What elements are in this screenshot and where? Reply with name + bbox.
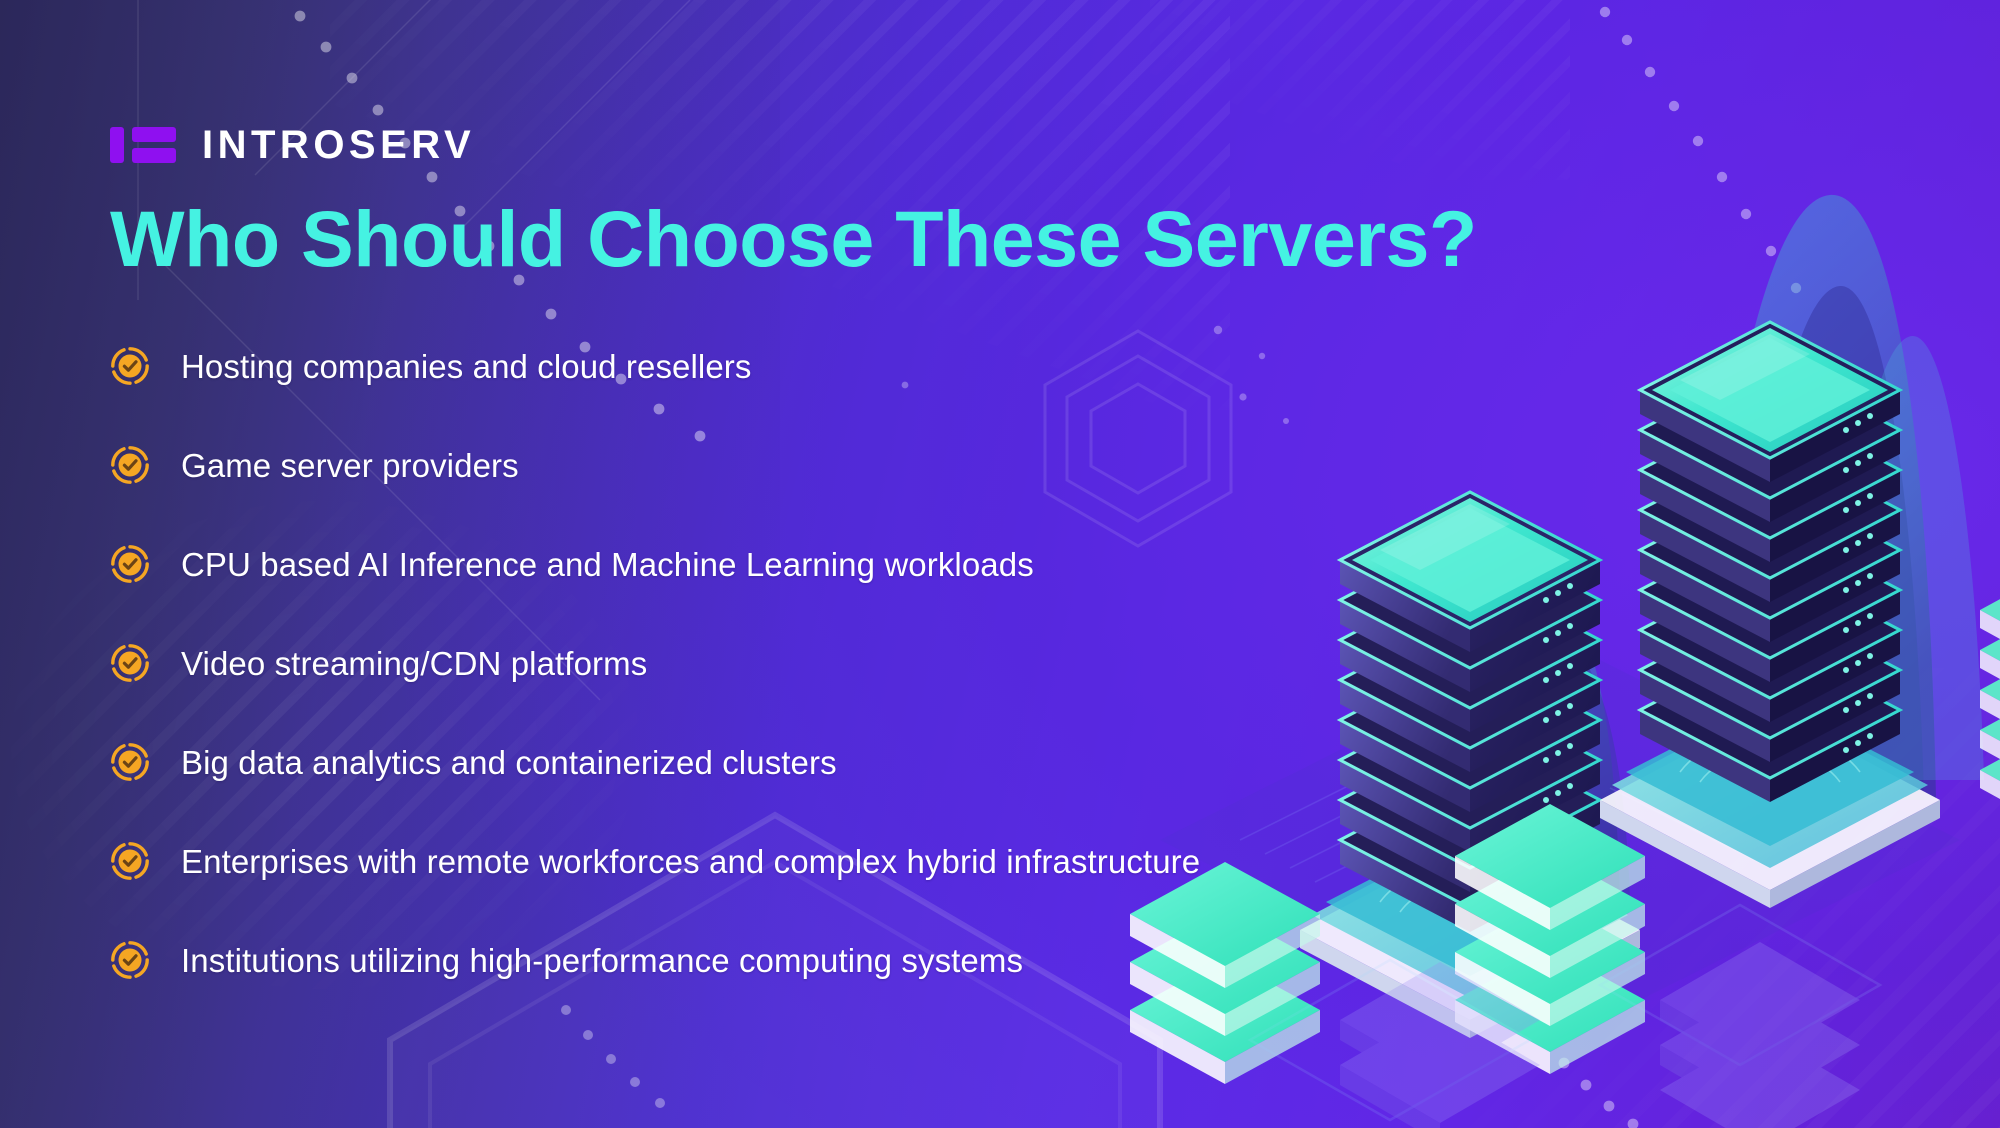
list-item-label: Game server providers bbox=[181, 446, 519, 486]
list-item: Big data analytics and containerized clu… bbox=[110, 713, 1360, 812]
orange-check-circle-icon bbox=[110, 643, 150, 683]
orange-check-circle-icon bbox=[110, 544, 150, 584]
introserv-bars-icon bbox=[110, 125, 176, 165]
benefits-list: Hosting companies and cloud resellers bbox=[110, 317, 1360, 1010]
list-item-label: Enterprises with remote workforces and c… bbox=[181, 842, 1200, 882]
list-item-label: Institutions utilizing high-performance … bbox=[181, 941, 1023, 981]
content-column: INTROSERV Who Should Choose These Server… bbox=[110, 118, 1360, 1010]
brand-name: INTROSERV bbox=[202, 125, 475, 165]
server-rack-far-right bbox=[1980, 572, 2000, 832]
page-title: Who Should Choose These Servers? bbox=[110, 198, 1360, 281]
orange-check-circle-icon bbox=[110, 742, 150, 782]
list-item: Hosting companies and cloud resellers bbox=[110, 317, 1360, 416]
list-item: CPU based AI Inference and Machine Learn… bbox=[110, 515, 1360, 614]
orange-check-circle-icon bbox=[110, 445, 150, 485]
list-item: Enterprises with remote workforces and c… bbox=[110, 812, 1360, 911]
rack-right-layers bbox=[1640, 322, 1900, 802]
slide-root: INTROSERV Who Should Choose These Server… bbox=[0, 0, 2000, 1128]
orange-check-circle-icon bbox=[110, 940, 150, 980]
list-item: Video streaming/CDN platforms bbox=[110, 614, 1360, 713]
orange-check-circle-icon bbox=[110, 841, 150, 881]
orange-check-circle-icon bbox=[110, 346, 150, 386]
list-item-label: Video streaming/CDN platforms bbox=[181, 644, 647, 684]
brand-logo[interactable]: INTROSERV bbox=[110, 118, 1360, 172]
list-item-label: CPU based AI Inference and Machine Learn… bbox=[181, 545, 1034, 585]
list-item: Game server providers bbox=[110, 416, 1360, 515]
list-item: Institutions utilizing high-performance … bbox=[110, 911, 1360, 1010]
dotted-arc-bottom-left bbox=[561, 1005, 665, 1108]
server-rack-right bbox=[1600, 322, 1940, 908]
list-item-label: Hosting companies and cloud resellers bbox=[181, 347, 752, 387]
list-item-label: Big data analytics and containerized clu… bbox=[181, 743, 837, 783]
